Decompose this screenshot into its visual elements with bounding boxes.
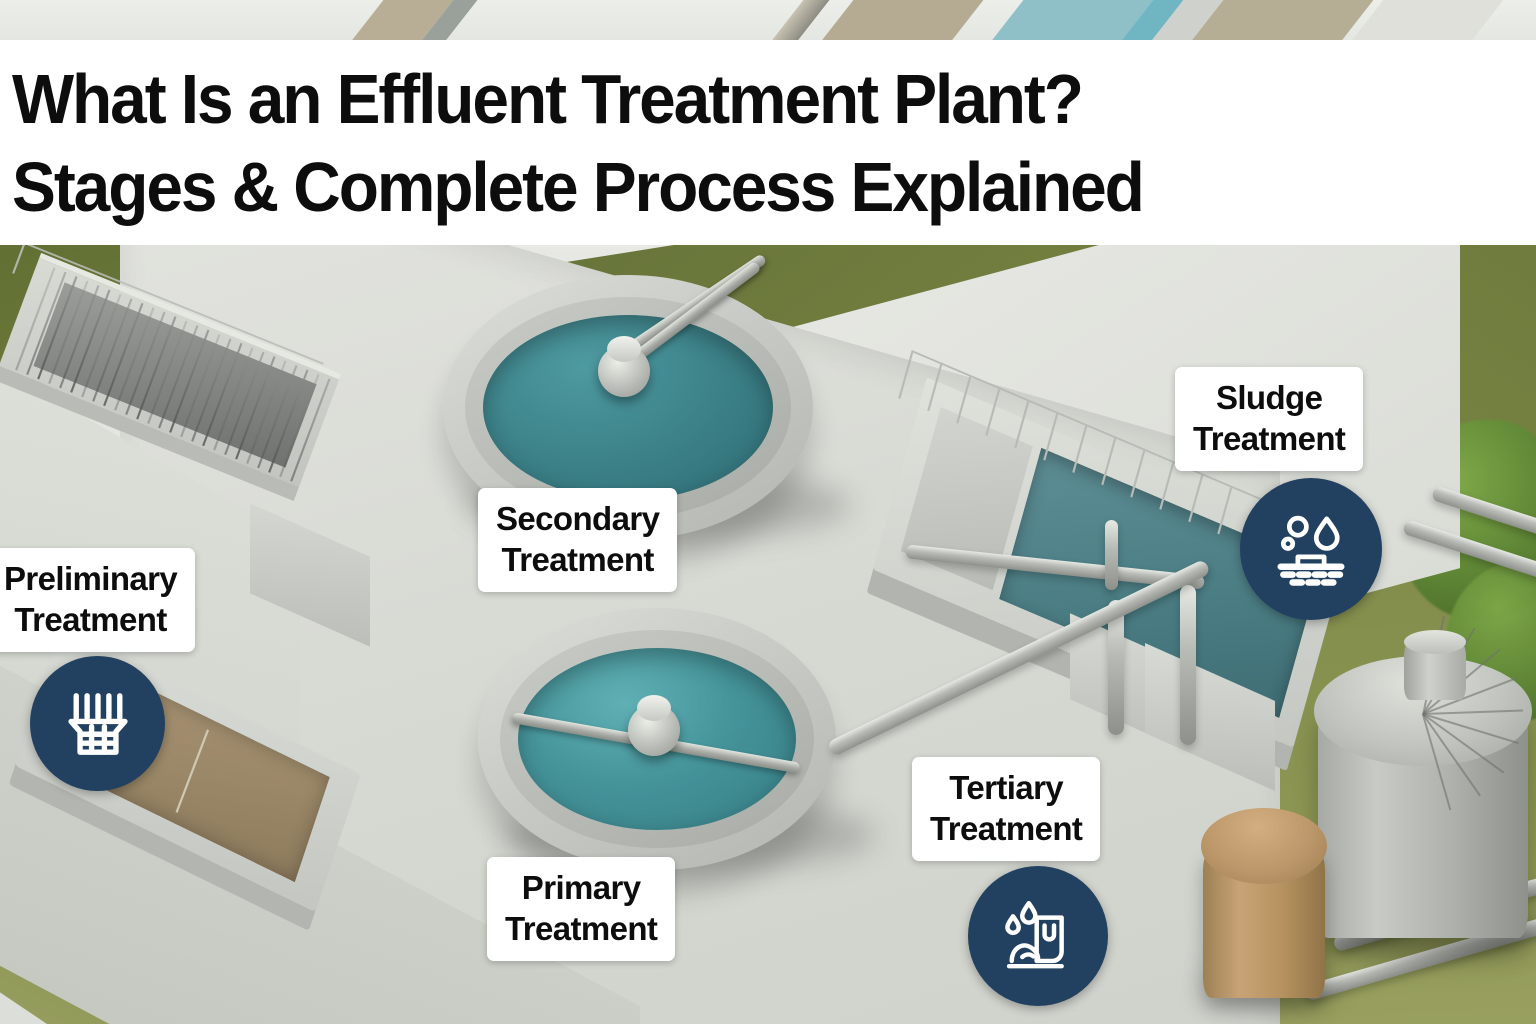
callout-secondary-treatment[interactable]: Secondary Treatment	[478, 488, 677, 592]
callout-tertiary-treatment[interactable]: Tertiary Treatment	[912, 757, 1100, 861]
callout-preliminary-treatment[interactable]: Preliminary Treatment	[0, 548, 195, 652]
sludge-tank-roof	[1201, 808, 1327, 884]
clarifier-center-hub	[598, 345, 650, 397]
callout-label-line-1: Primary	[505, 867, 657, 908]
callout-label-line-2: Treatment	[930, 808, 1082, 849]
infographic-page: What Is an Effluent Treatment Plant? Sta…	[0, 0, 1536, 1024]
basin-riser-pipe	[1105, 520, 1118, 590]
sludge-press-bubbles-icon	[1269, 507, 1353, 591]
callout-label-line-2: Treatment	[496, 539, 659, 580]
grit-scraper-rail	[176, 729, 209, 812]
clarifier-center-hub	[628, 704, 680, 756]
callout-label-line-1: Tertiary	[930, 767, 1082, 808]
sludge-holding-tank	[1203, 802, 1325, 998]
tertiary-icon-badge[interactable]	[968, 866, 1108, 1006]
uv-filter-droplets-icon	[996, 894, 1080, 978]
callout-label-line-2: Treatment	[4, 599, 177, 640]
callout-sludge-treatment[interactable]: Sludge Treatment	[1175, 367, 1363, 471]
primary-clarifier	[478, 608, 836, 870]
bar-screen-icon	[57, 683, 139, 765]
sludge-digester-tank	[1318, 648, 1528, 938]
callout-label-line-2: Treatment	[1193, 418, 1345, 459]
callout-label-line-1: Sludge	[1193, 377, 1345, 418]
page-title-line-1: What Is an Effluent Treatment Plant?	[12, 55, 1445, 143]
digester-top-hatch	[1404, 642, 1466, 700]
callout-label-line-1: Preliminary	[4, 558, 177, 599]
callout-label-line-2: Treatment	[505, 908, 657, 949]
basin-downpipe-right	[1180, 585, 1196, 745]
callout-primary-treatment[interactable]: Primary Treatment	[487, 857, 675, 961]
page-title-line-2: Stages & Complete Process Explained	[12, 143, 1445, 231]
title-banner: What Is an Effluent Treatment Plant? Sta…	[0, 40, 1536, 245]
sludge-icon-badge[interactable]	[1240, 478, 1382, 620]
callout-label-line-1: Secondary	[496, 498, 659, 539]
preliminary-icon-badge[interactable]	[30, 656, 165, 791]
